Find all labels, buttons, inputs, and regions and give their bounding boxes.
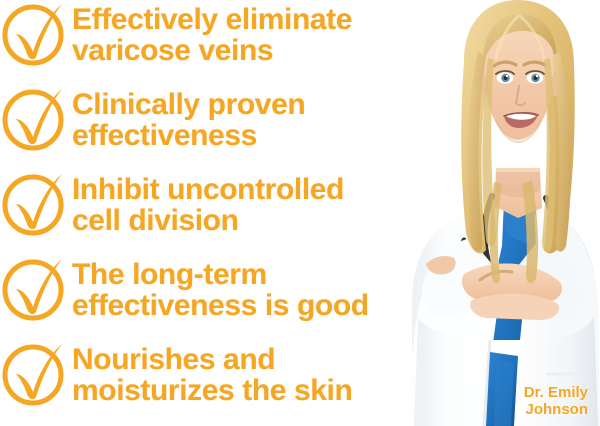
benefits-list: Effectively eliminate varicose veins Cli…	[0, 0, 600, 426]
benefit-item: Nourishes and moisturizes the skin	[0, 340, 600, 412]
benefits-poster: Effectively eliminate varicose veins Cli…	[0, 0, 600, 426]
benefit-text: Effectively eliminate varicose veins	[72, 0, 600, 66]
benefit-text: Nourishes and moisturizes the skin	[72, 340, 600, 406]
check-circle-icon	[2, 340, 68, 412]
benefit-text: Clinically proven effectiveness	[72, 85, 600, 151]
benefit-item: Effectively eliminate varicose veins	[0, 0, 600, 72]
benefit-text: Inhibit uncontrolled cell division	[72, 170, 600, 236]
benefit-item: Inhibit uncontrolled cell division	[0, 170, 600, 242]
check-circle-icon	[2, 85, 68, 157]
benefit-text: The long-term effectiveness is good	[72, 255, 600, 321]
benefit-item: The long-term effectiveness is good	[0, 255, 600, 327]
doctor-name-caption: Dr. Emily Johnson	[524, 384, 588, 418]
benefit-item: Clinically proven effectiveness	[0, 85, 600, 157]
check-circle-icon	[2, 0, 68, 72]
check-circle-icon	[2, 255, 68, 327]
check-circle-icon	[2, 170, 68, 242]
